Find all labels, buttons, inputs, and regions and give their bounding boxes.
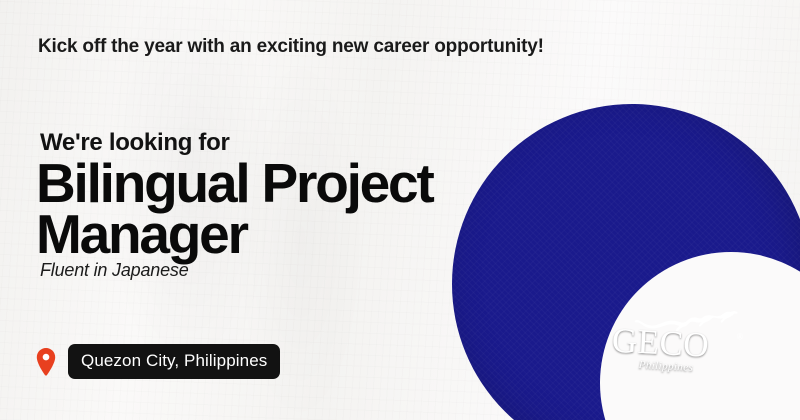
kicker-text: Kick off the year with an exciting new c… — [38, 36, 544, 58]
recruitment-banner: GECO ® Philippines Kick off the year wit… — [0, 0, 800, 420]
map-pin-icon — [36, 348, 56, 376]
job-subtitle: Fluent in Japanese — [40, 260, 189, 281]
location-badge: Quezon City, Philippines — [68, 344, 280, 379]
job-title: Bilingual Project Manager — [36, 158, 433, 259]
location-group: Quezon City, Philippines — [36, 344, 280, 379]
job-title-line-2: Manager — [36, 209, 433, 260]
person-photo — [430, 0, 800, 420]
